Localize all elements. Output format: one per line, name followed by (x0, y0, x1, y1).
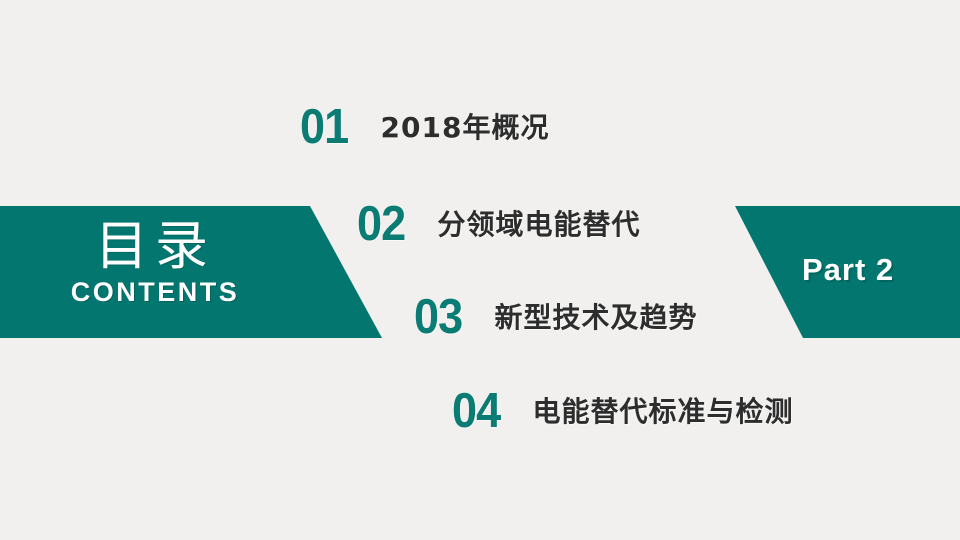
toc-number-02: 02 (357, 200, 405, 249)
toc-label-03: 新型技术及趋势 (495, 304, 698, 332)
toc-number-03: 03 (414, 293, 462, 342)
toc-label-02: 分领域电能替代 (438, 211, 641, 239)
toc-number-04: 04 (452, 387, 500, 436)
toc-item-02[interactable]: 02 分领域电能替代 (357, 200, 641, 249)
toc-item-01[interactable]: 01 2018年概况 (300, 103, 549, 152)
presentation-slide: 目录 CONTENTS Part 2 01 2018年概况 02 分领域电能替代… (0, 0, 960, 540)
toc-label-01: 2018年概况 (381, 114, 550, 142)
toc-item-03[interactable]: 03 新型技术及趋势 (414, 293, 698, 342)
toc-item-04[interactable]: 04 电能替代标准与检测 (452, 387, 794, 436)
contents-banner-shape (0, 206, 382, 338)
part-number-label: Part 2 (802, 252, 894, 288)
toc-label-04: 电能替代标准与检测 (533, 398, 794, 426)
toc-number-01: 01 (300, 103, 348, 152)
